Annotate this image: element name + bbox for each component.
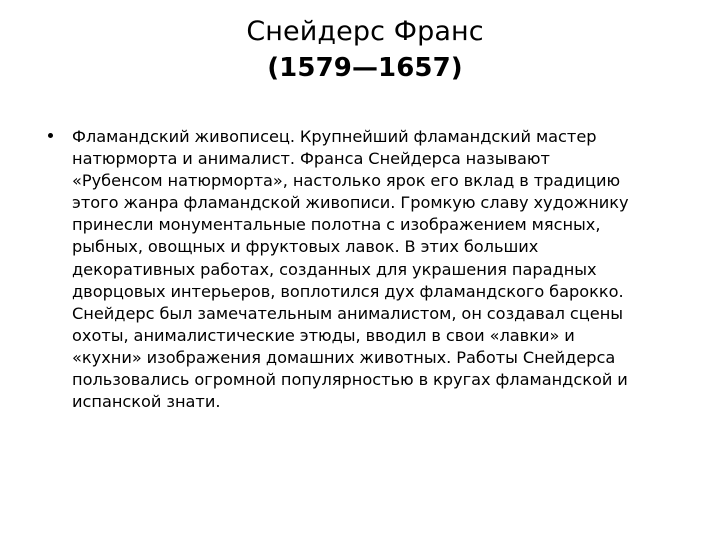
text-line: Фламандский живописец. Крупнейший фламан… [72,126,682,148]
text-line: пользовались огромной популярностью в кр… [72,369,682,391]
text-line: натюрморта и анималист. Франса Снейдерса… [72,148,682,170]
text-line: испанской знати. [72,391,682,413]
text-line: принесли монументальные полотна с изобра… [72,214,682,236]
text-line: Снейдерс был замечательным анималистом, … [72,303,682,325]
slide-canvas: Снейдерс Франс (1579—1657) Фламандский ж… [0,0,720,540]
list-item-text: Фламандский живописец. Крупнейший фламан… [72,126,682,413]
body-content: Фламандский живописец. Крупнейший фламан… [46,126,682,413]
text-line: рыбных, овощных и фруктовых лавок. В эти… [72,236,682,258]
text-line: этого жанра фламандской живописи. Громку… [72,192,682,214]
bullet-dot-icon [48,133,53,138]
text-line: декоративных работах, созданных для укра… [72,259,682,281]
text-line: «кухни» изображения домашних животных. Р… [72,347,682,369]
page-title: Снейдерс Франс (1579—1657) [0,14,720,86]
list-item: Фламандский живописец. Крупнейший фламан… [46,126,682,413]
text-line: «Рубенсом натюрморта», настолько ярок ег… [72,170,682,192]
page-title-line-2: (1579—1657) [0,50,720,86]
text-line: дворцовых интерьеров, воплотился дух фла… [72,281,682,303]
page-title-line-1: Снейдерс Франс [0,14,720,50]
text-line: охоты, анималистические этюды, вводил в … [72,325,682,347]
